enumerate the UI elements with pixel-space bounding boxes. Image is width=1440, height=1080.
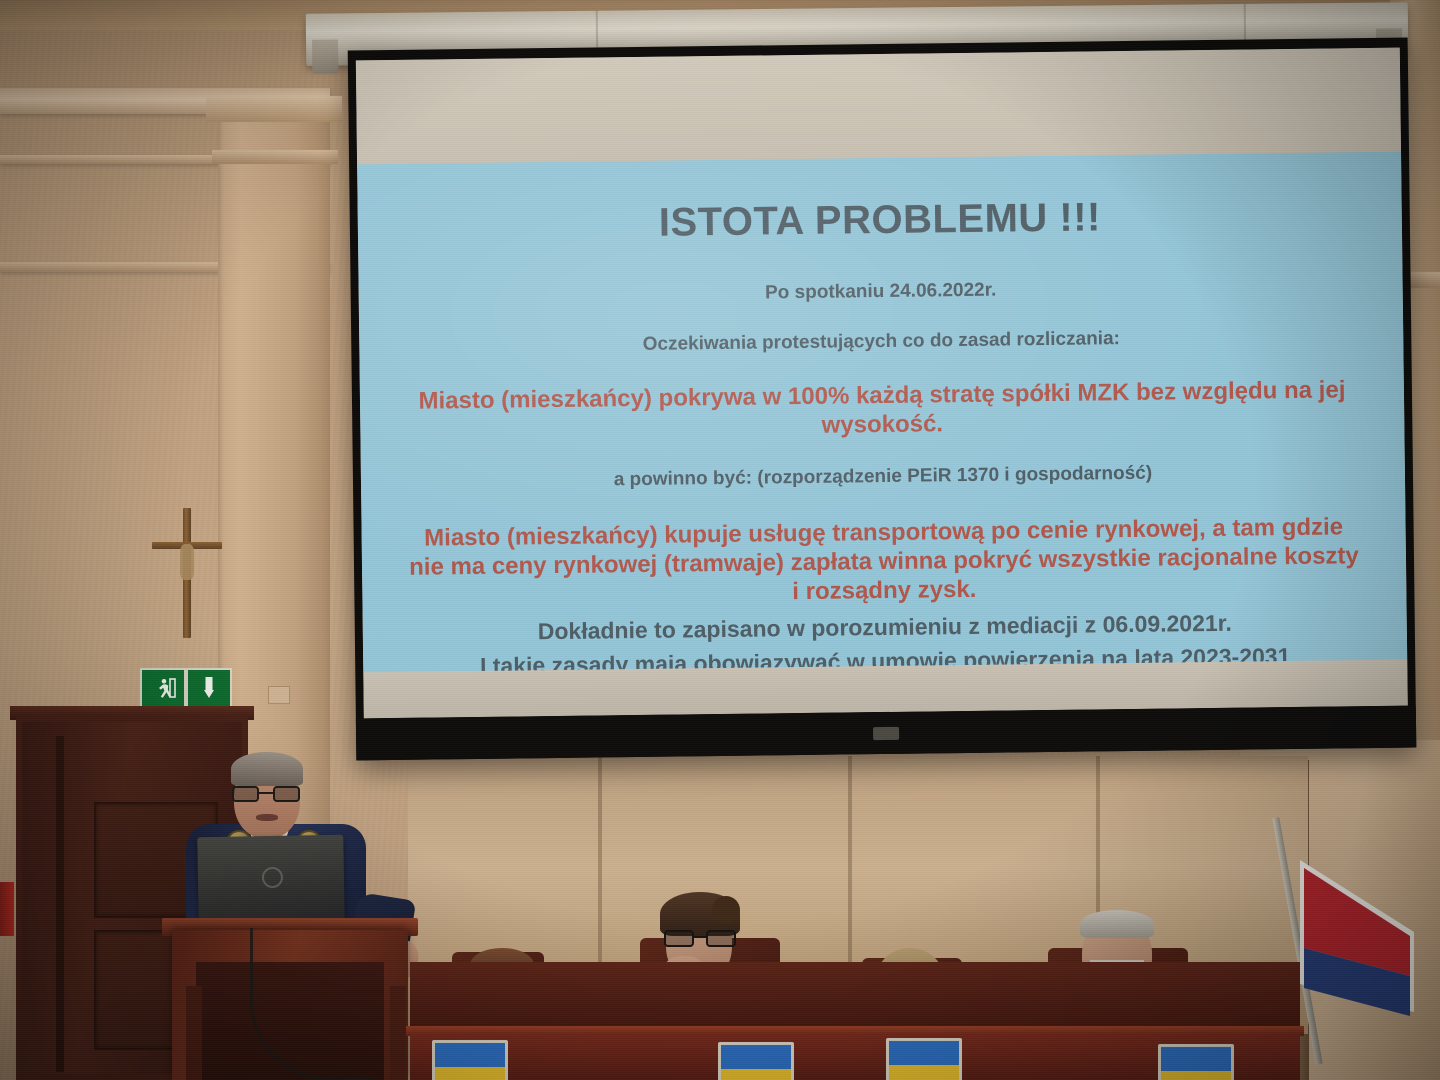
lectern-leg-right [390,986,406,1080]
panel-table-back [410,962,1300,1030]
meeting-room-scene: ISTOTA PROBLEMU !!! Po spotkaniu 24.06.2… [0,0,1440,1080]
slide-title: ISTOTA PROBLEMU !!! [400,192,1360,249]
speaker-glasses [232,786,302,802]
slide-red-statement-2: Miasto (mieszkańcy) kupuje usługę transp… [403,512,1364,612]
ukraine-desk-flag-3 [886,1038,962,1080]
wall-fire-equipment [0,882,14,936]
member-2-hair-bun [712,896,740,924]
hp-logo-icon [262,867,283,888]
screen-pull-tab[interactable] [873,727,899,740]
ukraine-desk-flag-1 [432,1040,508,1080]
city-flag [1282,816,1432,1066]
door-stile [56,736,64,1072]
slide-expectations-line: Oczekiwania protestujących co do zasad r… [401,325,1361,359]
hp-laptop[interactable] [197,835,345,926]
speaker-hair [231,752,303,786]
member-2-glasses [664,930,736,947]
slide-red-statement-1: Miasto (mieszkańcy) pokrywa w 100% każdą… [402,375,1363,445]
presentation-slide: ISTOTA PROBLEMU !!! Po spotkaniu 24.06.2… [357,152,1407,673]
member-4-hair [1080,910,1154,938]
screen-blank-area [356,48,1401,169]
ukraine-desk-flag-4 [1158,1044,1234,1080]
lectern-leg-left [186,986,202,1080]
slide-should-be-line: a powinno być: (rozporządzenie PEiR 1370… [403,460,1363,494]
pilaster-capital-band [212,150,338,164]
emergency-exit-running-man-icon [140,668,186,708]
speaker-mouth [256,814,278,821]
crucifix-icon [152,508,222,638]
ukraine-desk-flag-2 [718,1042,794,1080]
projector-screen: ISTOTA PROBLEMU !!! Po spotkaniu 24.06.2… [348,38,1417,761]
pilaster-capital [206,96,342,122]
wall-switch-plate[interactable] [268,686,290,704]
emergency-exit-arrow-down-icon [186,668,232,708]
projector-screen-surface: ISTOTA PROBLEMU !!! Po spotkaniu 24.06.2… [356,48,1408,719]
slide-meeting-date-line: Po spotkaniu 24.06.2022r. [401,275,1361,309]
